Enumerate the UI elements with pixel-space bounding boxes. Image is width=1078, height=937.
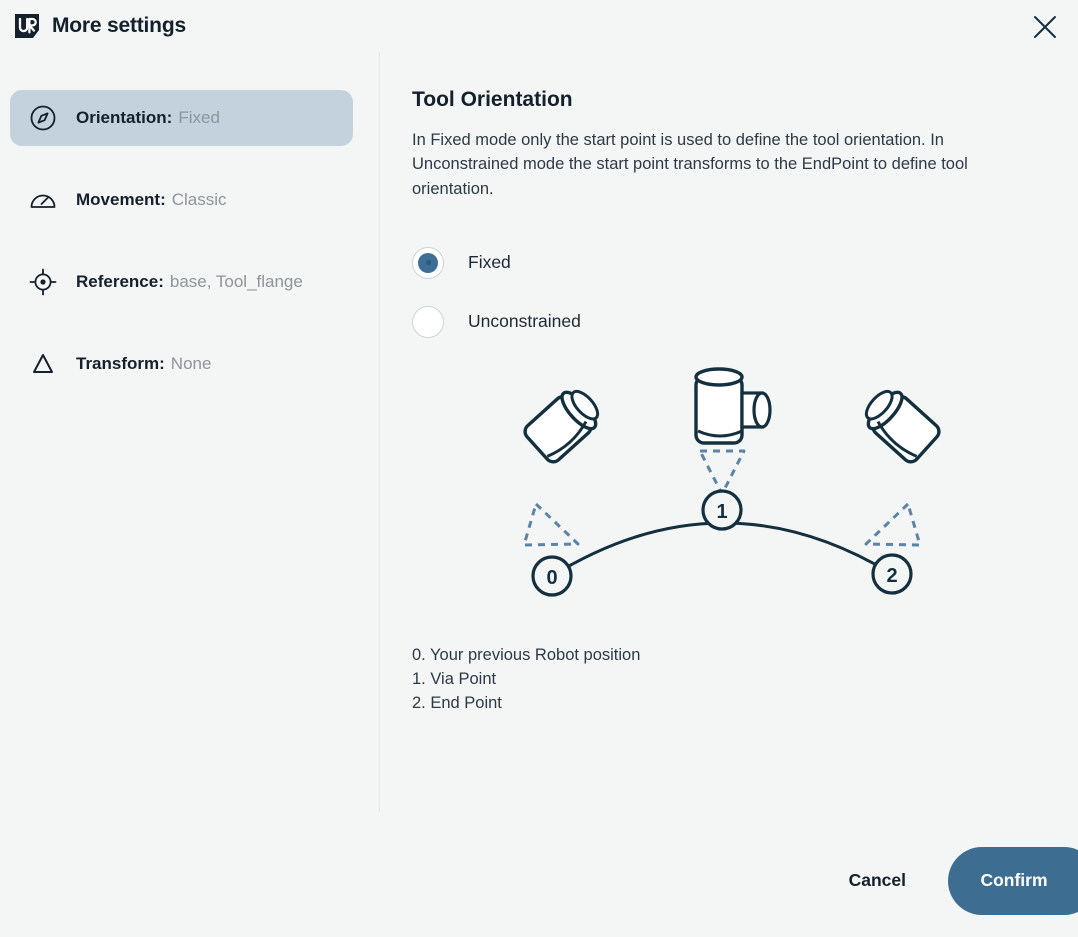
sidebar-item-value: None — [171, 354, 212, 374]
sidebar-item-reference[interactable]: Reference: base, Tool_flange — [10, 254, 353, 310]
legend-item: 1. Via Point — [412, 667, 1044, 691]
tool-icon-via — [696, 369, 770, 443]
dialog-footer: Cancel Confirm — [0, 824, 1078, 937]
legend-item: 2. End Point — [412, 691, 1044, 715]
sidebar-item-orientation[interactable]: Orientation: Fixed — [10, 90, 353, 146]
cancel-button[interactable]: Cancel — [829, 858, 926, 903]
radio-option-unconstrained[interactable]: Unconstrained — [412, 302, 672, 342]
legend-item: 0. Your previous Robot position — [412, 643, 1044, 667]
gauge-icon — [28, 185, 58, 215]
sidebar-item-value: Fixed — [178, 108, 220, 128]
section-description: In Fixed mode only the start point is us… — [412, 128, 1044, 201]
tool-icon-start — [522, 383, 606, 465]
ur-logo-icon — [14, 13, 40, 39]
radio-button[interactable] — [412, 306, 444, 338]
settings-sidebar: Orientation: Fixed Movement: Classic — [0, 52, 380, 824]
target-icon — [28, 267, 58, 297]
waypoint-marker-1: 1 — [703, 491, 741, 529]
sidebar-item-label: Transform: — [76, 354, 165, 374]
confirm-button[interactable]: Confirm — [948, 847, 1078, 915]
waypoint-marker-0: 0 — [533, 557, 571, 595]
radio-label: Fixed — [468, 252, 511, 273]
sidebar-item-value: Classic — [172, 190, 227, 210]
svg-text:0: 0 — [546, 567, 557, 589]
close-icon[interactable] — [1026, 8, 1064, 46]
tool-orientation-diagram: 0 1 2 — [412, 361, 1052, 621]
tool-beam-via — [700, 451, 744, 494]
radio-button[interactable] — [412, 247, 444, 279]
radio-option-fixed[interactable]: Fixed — [412, 243, 672, 283]
sidebar-item-label: Reference: — [76, 272, 164, 292]
dialog-header: More settings — [0, 0, 1078, 52]
sidebar-item-value: base, Tool_flange — [170, 272, 303, 292]
trajectory-path — [552, 523, 892, 576]
sidebar-item-label: Movement: — [76, 190, 166, 210]
tool-beam-end — [866, 504, 920, 545]
tool-icon-end — [858, 383, 942, 465]
sidebar-item-transform[interactable]: Transform: None — [10, 336, 353, 392]
page-title: More settings — [52, 14, 186, 38]
section-title: Tool Orientation — [412, 88, 1044, 112]
svg-text:1: 1 — [716, 501, 727, 523]
compass-icon — [28, 103, 58, 133]
tool-beam-start — [524, 504, 578, 545]
sidebar-item-movement[interactable]: Movement: Classic — [10, 172, 353, 228]
diagram-legend: 0. Your previous Robot position 1. Via P… — [412, 643, 1044, 715]
settings-detail-panel: Tool Orientation In Fixed mode only the … — [380, 52, 1078, 824]
orientation-radio-group: Fixed Unconstrained — [412, 243, 1044, 342]
radio-label: Unconstrained — [468, 311, 581, 332]
dialog-body: Orientation: Fixed Movement: Classic — [0, 52, 1078, 824]
triangle-icon — [28, 349, 58, 379]
waypoint-marker-2: 2 — [873, 555, 911, 593]
svg-text:2: 2 — [886, 565, 897, 587]
sidebar-item-label: Orientation: — [76, 108, 172, 128]
